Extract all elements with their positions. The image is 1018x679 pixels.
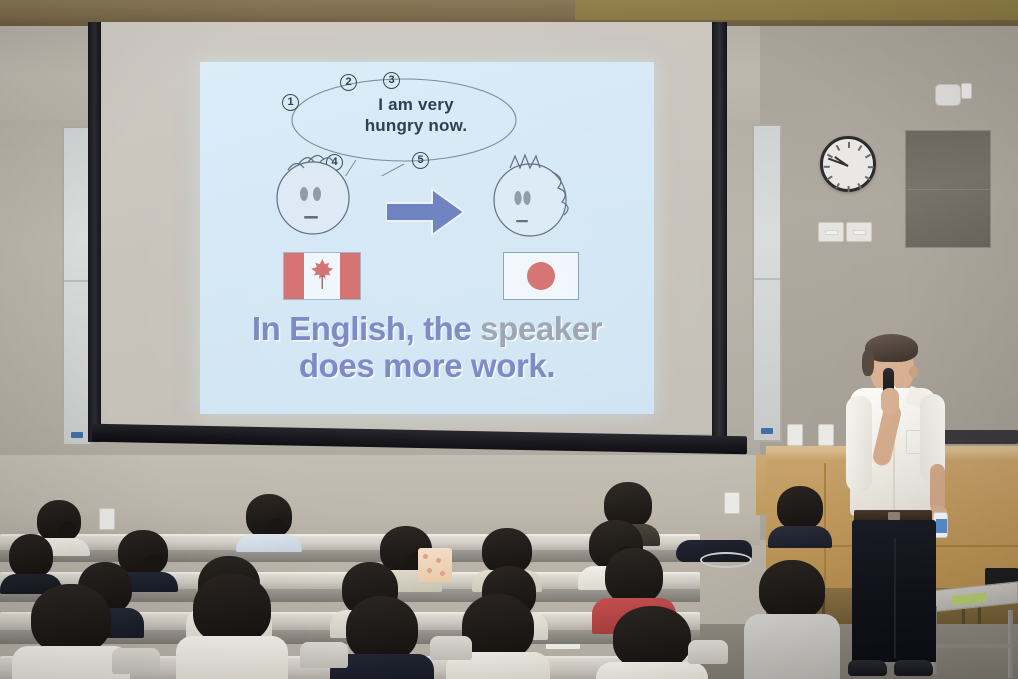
student-body — [596, 662, 708, 679]
whiteboard-right-edge — [752, 124, 782, 442]
japan-flag-icon — [503, 252, 579, 300]
wall-outlet-right-1 — [787, 424, 803, 446]
student-head — [193, 574, 271, 644]
student-r1-2 — [176, 574, 288, 679]
whiteboard-divider — [754, 278, 780, 280]
stress-number-1: 1 — [282, 94, 299, 111]
presenter-sleeve-left — [846, 396, 872, 492]
chair-back — [688, 640, 728, 664]
panel-seam — [906, 189, 990, 190]
canada-flag-icon — [283, 252, 361, 300]
slide-flags — [200, 250, 654, 308]
presenter — [838, 330, 968, 679]
floral-pouch — [418, 548, 452, 582]
student-head — [9, 534, 53, 578]
projected-slide: I am very hungry now. 1 2 3 4 5 — [200, 62, 654, 414]
japan-flag-disc — [527, 262, 555, 290]
canada-flag-left-bar — [284, 253, 304, 299]
caption-segment-1: In English, the — [252, 310, 472, 347]
chair-back — [300, 642, 348, 668]
dark-wall-panel — [905, 130, 991, 248]
student-r3-6 — [744, 560, 840, 679]
caption-segment-3: does more work. — [200, 347, 654, 384]
bubble-line-1: I am very — [316, 94, 516, 115]
bubble-line-2: hungry now. — [316, 115, 516, 136]
student-head — [777, 486, 823, 530]
wall-outlet-center — [724, 492, 740, 514]
wall-outlet-left — [99, 508, 115, 530]
slide-caption: In English, the speaker does more work. — [200, 310, 654, 384]
student-body — [176, 636, 288, 679]
wall-clock — [820, 136, 876, 192]
ceiling-trim-right — [575, 0, 1018, 20]
power-plug-icon — [961, 83, 972, 99]
screen-frame-left — [88, 22, 101, 442]
canada-flag-right-bar — [340, 253, 360, 299]
presenter-shoe-left — [848, 660, 887, 676]
student-hair-bun — [144, 554, 164, 574]
student-head — [759, 560, 825, 620]
student-head — [605, 548, 663, 604]
student-r4-2 — [236, 494, 302, 550]
projection-screen: I am very hungry now. 1 2 3 4 5 — [88, 22, 756, 457]
student-head — [613, 606, 691, 670]
stress-number-3: 3 — [383, 72, 400, 89]
presenter-trousers — [852, 520, 936, 662]
maple-leaf-icon — [304, 253, 341, 299]
whiteboard-divider — [64, 280, 90, 282]
light-switch-plate-2[interactable] — [846, 222, 872, 242]
chair-back — [112, 648, 160, 674]
right-arrow-icon — [386, 187, 464, 237]
belt-buckle — [888, 512, 900, 520]
light-switch-plate-1[interactable] — [818, 222, 844, 242]
student-head — [31, 584, 111, 654]
student-r4-4 — [768, 486, 832, 548]
presenter-shoe-right — [894, 660, 933, 676]
speech-bubble-text: I am very hungry now. — [316, 94, 516, 136]
whiteboard-marker — [761, 428, 773, 434]
presenter-hand-with-microphone — [881, 388, 899, 414]
presenter-hair-side — [862, 350, 874, 376]
classroom-photo-scene: I am very hungry now. 1 2 3 4 5 — [0, 0, 1018, 679]
chair-back — [430, 636, 472, 660]
caption-segment-2: speaker — [480, 310, 602, 347]
stress-number-2: 2 — [340, 74, 357, 91]
presenter-ear — [909, 366, 918, 378]
student-body — [768, 526, 832, 548]
ceiling-sensor-icon — [935, 84, 961, 106]
whiteboard-marker — [71, 432, 83, 438]
screen-surface: I am very hungry now. 1 2 3 4 5 — [99, 22, 724, 434]
student-head — [346, 596, 418, 662]
student-head — [462, 594, 534, 660]
canada-flag-center — [304, 253, 341, 299]
student-body — [236, 534, 302, 552]
wall-outlet-right-2 — [818, 424, 834, 446]
presenter-forearm-right — [930, 464, 945, 512]
screen-frame-right — [712, 22, 727, 442]
student-body — [744, 614, 840, 679]
